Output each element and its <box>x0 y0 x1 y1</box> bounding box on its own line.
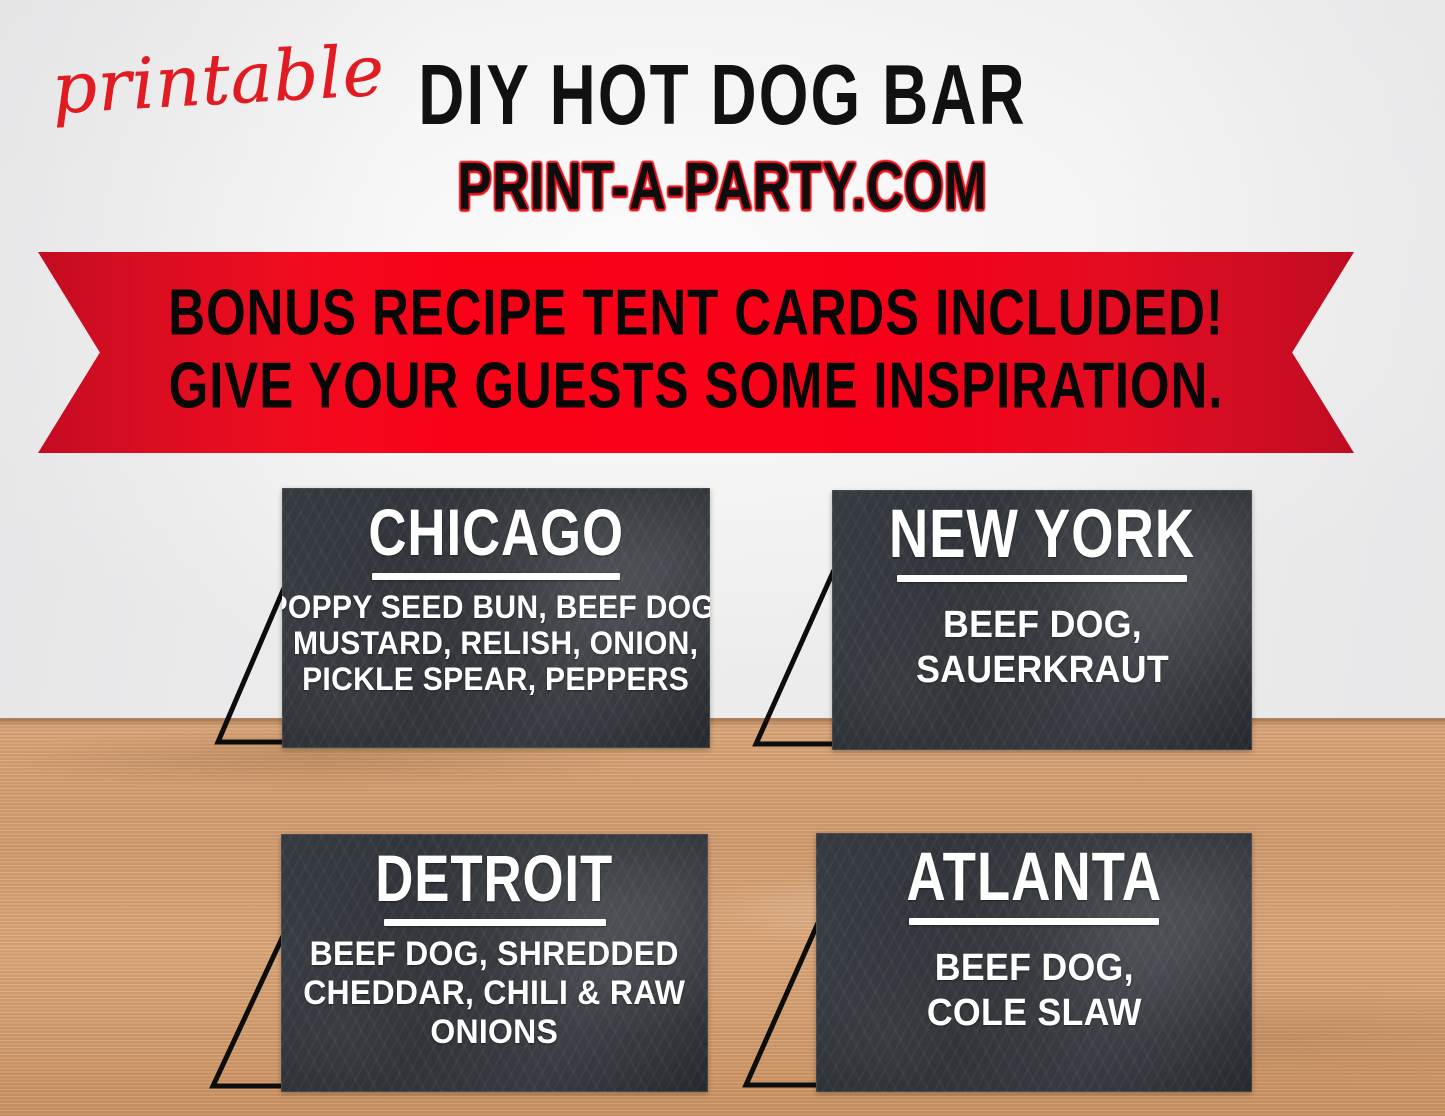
card-description-atlanta: BEEF DOG, COLE SLAW <box>908 946 1161 1036</box>
tent-stand-triangle-icon <box>752 568 838 750</box>
tent-card-new-york: NEW YORK BEEF DOG, SAUERKRAUT <box>832 490 1252 750</box>
tent-card-stand-new-york <box>752 568 838 750</box>
card-title-new-york: NEW YORK <box>889 501 1195 569</box>
tent-card-stand-detroit <box>209 934 287 1092</box>
card-title-detroit: DETROIT <box>376 845 614 913</box>
page-title: DIY HOT DOG BAR <box>116 50 1330 142</box>
chalkboard-card-atlanta: ATLANTA BEEF DOG, COLE SLAW <box>816 833 1252 1092</box>
product-listing-image: printable DIY HOT DOG BAR PRINT-A-PARTY.… <box>0 0 1445 1116</box>
title-underline <box>897 575 1187 582</box>
card-title-atlanta: ATLANTA <box>906 844 1162 912</box>
site-url: PRINT-A-PARTY.COM <box>130 152 1315 223</box>
tent-card-stand-chicago <box>214 586 288 748</box>
desc-line: BEEF DOG, <box>927 946 1142 991</box>
card-description-chicago: POPPY SEED BUN, BEEF DOG, MUSTARD, RELIS… <box>282 589 710 697</box>
tent-card-atlanta: ATLANTA BEEF DOG, COLE SLAW <box>816 833 1252 1092</box>
desc-line: COLE SLAW <box>927 991 1142 1036</box>
desc-line: BEEF DOG, SHREDDED <box>303 935 685 974</box>
card-title-chicago: CHICAGO <box>368 499 624 567</box>
ribbon-line-1: BONUS RECIPE TENT CARDS INCLUDED! <box>117 272 1275 354</box>
desc-line: POPPY SEED BUN, BEEF DOG, <box>282 589 710 625</box>
desc-line: CHEDDAR, CHILI & RAW <box>303 974 685 1013</box>
title-underline <box>384 919 606 926</box>
tent-stand-triangle-icon <box>742 921 822 1091</box>
title-underline <box>909 918 1159 925</box>
card-description-detroit: BEEF DOG, SHREDDED CHEDDAR, CHILI & RAW … <box>281 935 708 1052</box>
desc-line: SAUERKRAUT <box>916 648 1169 693</box>
bonus-ribbon-text: BONUS RECIPE TENT CARDS INCLUDED! GIVE Y… <box>38 276 1354 422</box>
tent-stand-triangle-icon <box>209 934 287 1092</box>
chalkboard-card-new-york: NEW YORK BEEF DOG, SAUERKRAUT <box>832 490 1252 750</box>
tent-card-detroit: DETROIT BEEF DOG, SHREDDED CHEDDAR, CHIL… <box>281 834 708 1092</box>
tent-card-stand-atlanta <box>742 921 822 1091</box>
desc-line: PICKLE SPEAR, PEPPERS <box>282 661 710 697</box>
desc-line: BEEF DOG, <box>916 603 1169 648</box>
desc-line: MUSTARD, RELISH, ONION, <box>282 625 710 661</box>
chalkboard-card-chicago: CHICAGO POPPY SEED BUN, BEEF DOG, MUSTAR… <box>282 488 710 748</box>
tent-card-chicago: CHICAGO POPPY SEED BUN, BEEF DOG, MUSTAR… <box>282 488 710 748</box>
ribbon-line-2: GIVE YOUR GUESTS SOME INSPIRATION. <box>117 345 1275 427</box>
title-underline <box>372 573 620 580</box>
card-description-new-york: BEEF DOG, SAUERKRAUT <box>896 603 1189 693</box>
chalkboard-card-detroit: DETROIT BEEF DOG, SHREDDED CHEDDAR, CHIL… <box>281 834 708 1092</box>
desc-line: ONIONS <box>303 1013 685 1052</box>
tent-stand-triangle-icon <box>214 586 288 748</box>
